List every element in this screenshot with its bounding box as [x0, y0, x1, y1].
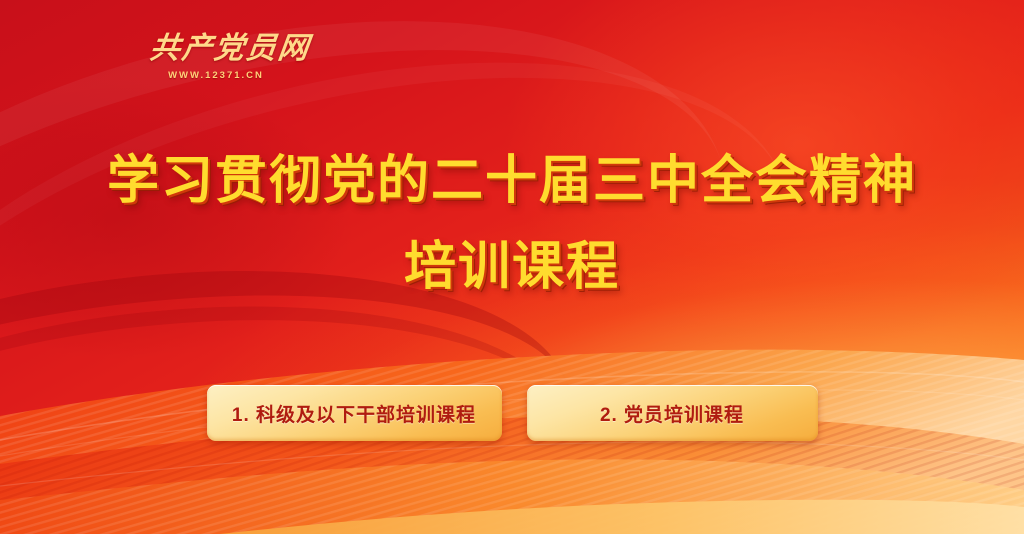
course-button-cadre-training[interactable]: 1. 科级及以下干部培训课程 — [207, 385, 502, 441]
logo-url-text: WWW.12371.CN — [150, 70, 282, 81]
course-button-row: 1. 科级及以下干部培训课程 2. 党员培训课程 — [0, 385, 1024, 441]
banner-page: 共产党员网 WWW.12371.CN 学习贯彻党的二十届三中全会精神 培训课程 … — [0, 0, 1024, 534]
page-title-line-1: 学习贯彻党的二十届三中全会精神 — [0, 152, 1024, 210]
logo-wordmark: 共产党员网 — [148, 33, 284, 65]
course-button-party-member-training[interactable]: 2. 党员培训课程 — [527, 385, 818, 441]
page-title-line-2: 培训课程 — [0, 238, 1024, 296]
page-title: 学习贯彻党的二十届三中全会精神 培训课程 — [0, 152, 1024, 296]
site-logo[interactable]: 共产党员网 WWW.12371.CN — [150, 33, 282, 81]
